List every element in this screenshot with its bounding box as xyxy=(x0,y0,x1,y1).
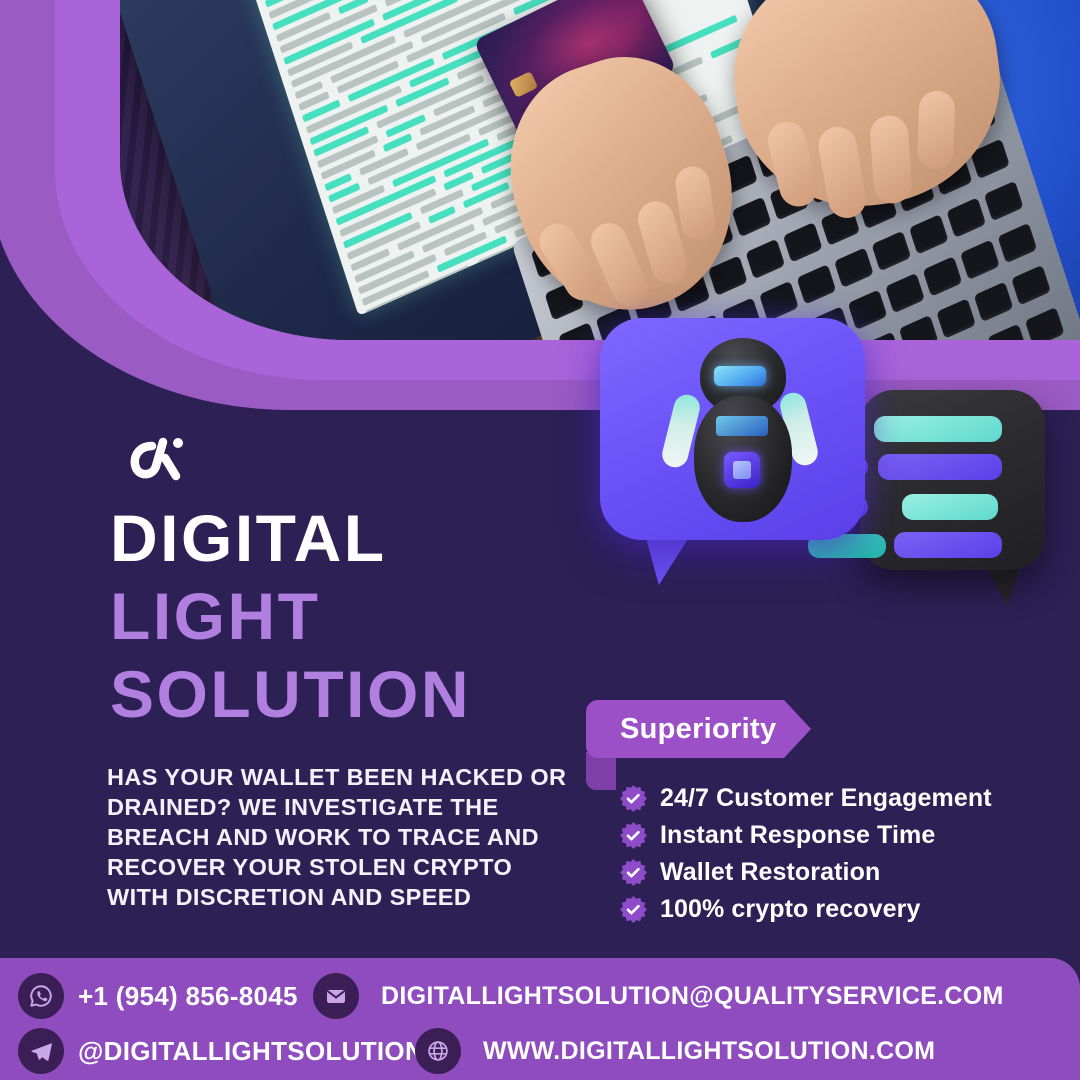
keyboard-key xyxy=(732,197,772,238)
keyboard-key xyxy=(834,247,874,288)
whatsapp-icon xyxy=(18,973,64,1019)
finger xyxy=(917,90,956,169)
keyboard-key xyxy=(923,256,963,297)
email-icon xyxy=(313,973,359,1019)
message-bar xyxy=(894,532,1002,558)
globe-icon xyxy=(415,1028,461,1074)
email-value: DIGITALLIGHTSOLUTION@QUALITYSERVICE.COM xyxy=(381,982,1004,1011)
phone-value: +1 (954) 856-8045 xyxy=(78,981,298,1012)
keyboard-key xyxy=(984,181,1024,222)
list-item-label: 24/7 Customer Engagement xyxy=(660,784,992,813)
contact-footer: +1 (954) 856-8045 DIGITALLIGHTSOLUTION@Q… xyxy=(0,958,1080,1080)
contact-website[interactable]: WWW.DIGITALLIGHTSOLUTION.COM xyxy=(415,1028,935,1074)
title-line-3: SOLUTION xyxy=(110,656,630,734)
keyboard-key xyxy=(745,239,785,280)
list-item-label: Instant Response Time xyxy=(660,821,935,850)
keyboard-key xyxy=(871,231,911,272)
list-item: 100% crypto recovery xyxy=(620,895,1060,924)
finger xyxy=(869,114,913,204)
title-line-1: DIGITAL xyxy=(110,500,630,578)
contact-phone[interactable]: +1 (954) 856-8045 xyxy=(18,973,298,1019)
robot-body xyxy=(694,396,792,522)
keyboard-key xyxy=(946,197,986,238)
list-item: Instant Response Time xyxy=(620,821,1060,850)
card-chip-icon xyxy=(509,71,538,98)
check-badge-icon xyxy=(620,822,647,849)
brand-logo xyxy=(118,428,198,490)
purple-chat-bubble xyxy=(600,318,865,540)
keyboard-key xyxy=(797,264,837,305)
check-badge-icon xyxy=(620,785,647,812)
message-bar xyxy=(902,494,998,520)
poster-canvas: BANK NAME CARDHOLDER NAME DIGITAL LIGHT … xyxy=(0,0,1080,1080)
keyboard-key xyxy=(759,281,799,322)
robot-display-panel xyxy=(716,416,768,436)
message-bar xyxy=(878,454,1002,480)
keyboard-key xyxy=(909,214,949,255)
list-item-label: Wallet Restoration xyxy=(660,858,880,887)
telegram-icon xyxy=(18,1028,64,1074)
title-line-2: LIGHT xyxy=(110,578,630,656)
list-item: 24/7 Customer Engagement xyxy=(620,784,1060,813)
list-item-label: 100% crypto recovery xyxy=(660,895,920,924)
dark-chat-bubble xyxy=(860,390,1045,570)
keyboard-key xyxy=(783,222,823,263)
ribbon-label: Superiority xyxy=(586,713,776,746)
body-copy: HAS YOUR WALLET BEEN HACKED OR DRAINED? … xyxy=(107,762,567,912)
list-item: Wallet Restoration xyxy=(620,858,1060,887)
website-value: WWW.DIGITALLIGHTSOLUTION.COM xyxy=(483,1037,935,1066)
ribbon-body: Superiority xyxy=(586,700,811,758)
check-badge-icon xyxy=(620,896,647,923)
keyboard-key xyxy=(997,223,1037,264)
telegram-value: @DIGITALLIGHTSOLUTION xyxy=(78,1036,424,1067)
hero-photo: BANK NAME CARDHOLDER NAME xyxy=(120,0,1080,340)
contact-email[interactable]: DIGITALLIGHTSOLUTION@QUALITYSERVICE.COM xyxy=(313,973,1004,1019)
robot-visor xyxy=(714,366,766,386)
keyboard-key xyxy=(960,239,1000,280)
robot-chip-icon xyxy=(724,452,760,488)
keyboard-key xyxy=(885,273,925,314)
page-title: DIGITAL LIGHT SOLUTION xyxy=(110,500,630,734)
keyboard-key xyxy=(974,282,1014,323)
contact-telegram[interactable]: @DIGITALLIGHTSOLUTION xyxy=(18,1028,424,1074)
superiority-ribbon: Superiority xyxy=(586,700,836,790)
message-bar xyxy=(874,416,1002,442)
feature-list: 24/7 Customer EngagementInstant Response… xyxy=(620,784,1060,932)
chatbot-illustration xyxy=(590,318,1050,663)
keyboard-key xyxy=(1011,265,1051,306)
check-badge-icon xyxy=(620,859,647,886)
finger xyxy=(673,164,717,242)
